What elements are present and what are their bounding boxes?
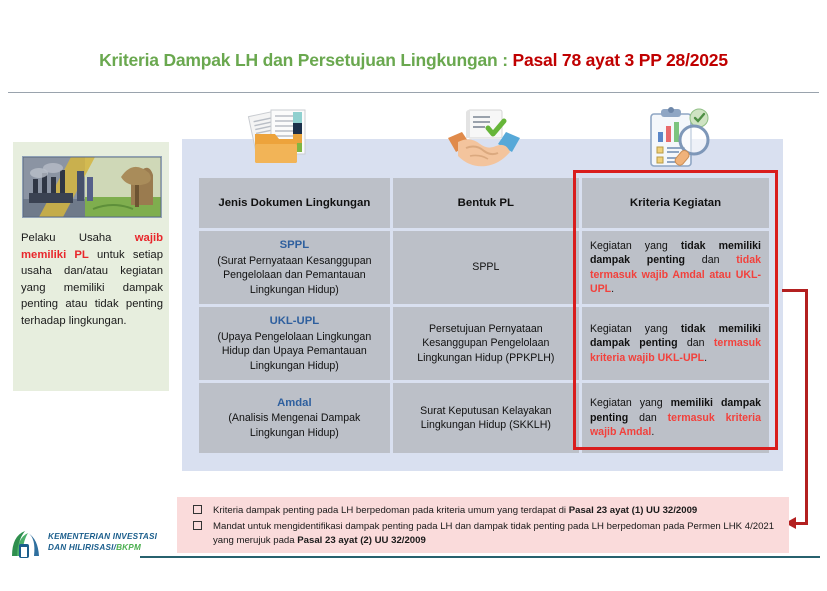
kriteria-part-1: Kegiatan yang [590, 397, 671, 409]
col-header-kriteria-kegiatan: Kriteria Kegiatan [582, 178, 769, 228]
title-divider [8, 92, 819, 93]
cell-kriteria-sppl: Kegiatan yang tidak memiliki dampak pent… [582, 231, 769, 304]
info-card: Pelaku Usaha wajib memiliki PL untuk set… [13, 142, 169, 391]
page-title: Kriteria Dampak LH dan Persetujuan Lingk… [0, 50, 827, 71]
title-red-part: Pasal 78 ayat 3 PP 28/2025 [513, 50, 728, 70]
bkpm-logo-icon [8, 528, 42, 560]
note-item: Mandat untuk mengidentifikasi dampak pen… [187, 520, 779, 549]
logo-line-2-accent: BKPM [116, 543, 141, 552]
doc-abbr: SPPL [207, 238, 382, 253]
col-header-jenis-dokumen: Jenis Dokumen Lingkungan [199, 178, 390, 228]
doc-full: (Upaya Pengelolaan Lingkungan Hidup dan … [217, 331, 371, 372]
kriteria-part-3: dan [628, 412, 667, 424]
doc-abbr: Amdal [207, 396, 382, 411]
doc-full: (Analisis Mengenai Dampak Lingkungan Hid… [228, 412, 360, 439]
note-text-bold: Pasal 23 ayat (2) UU 32/2009 [297, 535, 426, 546]
clipboard-magnifier-icon [645, 106, 717, 170]
info-card-text: Pelaku Usaha wajib memiliki PL untuk set… [21, 230, 163, 329]
logo-line-1: KEMENTERIAN INVESTASI [48, 532, 157, 543]
doc-abbr: UKL-UPL [207, 314, 382, 329]
cell-dokumen-sppl: SPPL (Surat Pernyataan Kesanggupan Penge… [199, 231, 390, 304]
kriteria-part-5: . [651, 426, 654, 438]
connector-segment-bottom [795, 522, 808, 525]
table-row: SPPL (Surat Pernyataan Kesanggupan Penge… [199, 231, 769, 304]
documents-folder-icon [243, 108, 323, 170]
connector-segment-right [805, 289, 808, 525]
slide-canvas: Kriteria Dampak LH dan Persetujuan Lingk… [0, 0, 827, 591]
checkbox-bullet-icon [193, 505, 202, 514]
kriteria-part-3: dan [678, 337, 714, 349]
criteria-table: Jenis Dokumen Lingkungan Bentuk PL Krite… [196, 175, 772, 456]
info-text-part-1: Pelaku Usaha [21, 232, 135, 244]
note-text-plain: Kriteria dampak penting pada LH berpedom… [213, 505, 569, 516]
footer-divider [140, 556, 820, 558]
cell-bentuk-ukl-upl: Persetujuan Pernyataan Kesanggupan Penge… [393, 307, 579, 380]
table-header-row: Jenis Dokumen Lingkungan Bentuk PL Krite… [199, 178, 769, 228]
footer-logo-text: KEMENTERIAN INVESTASI DAN HILIRISASI/BKP… [48, 532, 157, 553]
kriteria-part-3: dan [685, 254, 736, 266]
kriteria-part-1: Kegiatan yang [590, 323, 681, 335]
kriteria-part-5: . [704, 352, 707, 364]
col-header-bentuk-pl: Bentuk PL [393, 178, 579, 228]
table-row: Amdal (Analisis Mengenai Dampak Lingkung… [199, 383, 769, 453]
kriteria-part-1: Kegiatan yang [590, 240, 681, 252]
table-row: UKL-UPL (Upaya Pengelolaan Lingkungan Hi… [199, 307, 769, 380]
title-green-part: Kriteria Dampak LH dan Persetujuan Lingk… [99, 50, 512, 70]
cell-dokumen-ukl-upl: UKL-UPL (Upaya Pengelolaan Lingkungan Hi… [199, 307, 390, 380]
handshake-agreement-icon [440, 108, 528, 170]
logo-line-2-main: DAN HILIRISASI/ [48, 543, 116, 552]
cell-bentuk-amdal: Surat Keputusan Kelayakan Lingkungan Hid… [393, 383, 579, 453]
note-text-bold: Pasal 23 ayat (1) UU 32/2009 [569, 505, 698, 516]
cell-bentuk-sppl: SPPL [393, 231, 579, 304]
note-box: Kriteria dampak penting pada LH berpedom… [177, 497, 789, 553]
pollution-vs-nature-illustration [22, 156, 162, 218]
kriteria-part-5: . [611, 283, 614, 295]
doc-full: (Surat Pernyataan Kesanggupan Pengelolaa… [217, 255, 371, 296]
cell-dokumen-amdal: Amdal (Analisis Mengenai Dampak Lingkung… [199, 383, 390, 453]
note-item: Kriteria dampak penting pada LH berpedom… [187, 504, 779, 519]
logo-line-2: DAN HILIRISASI/BKPM [48, 543, 157, 554]
cell-kriteria-amdal: Kegiatan yang memiliki dampak penting da… [582, 383, 769, 453]
cell-kriteria-ukl-upl: Kegiatan yang tidak memiliki dampak pent… [582, 307, 769, 380]
